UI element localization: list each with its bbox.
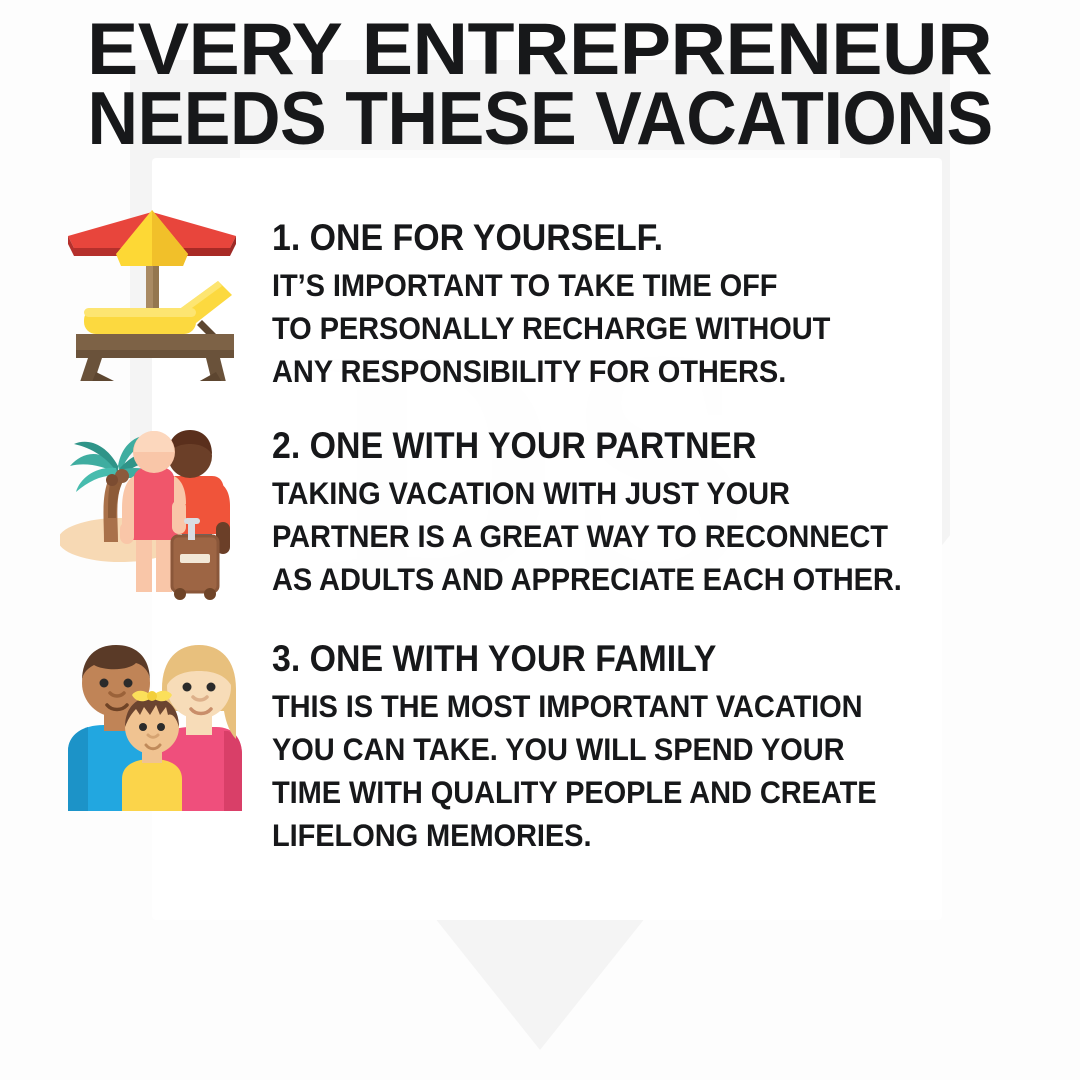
- tip-body-1-line-1: IT’S IMPORTANT TO TAKE TIME OFF: [272, 264, 777, 307]
- tip-body-3-line-1: THIS IS THE MOST IMPORTANT VACATION: [272, 685, 863, 728]
- couple-vacation-palm-icon: [60, 418, 245, 603]
- page-title-line-1: EVERY ENTREPRENEUR: [87, 16, 992, 84]
- list-item-vacation-3: 3. ONE WITH YOUR FAMILY THIS IS THE MOST…: [0, 631, 1080, 856]
- tip-heading-2: 2. ONE WITH YOUR PARTNER: [272, 426, 756, 466]
- family-icon: [60, 631, 245, 816]
- tip-body-2-line-3: AS ADULTS AND APPRECIATE EACH OTHER.: [272, 558, 902, 601]
- tip-body-3-line-2: YOU CAN TAKE. YOU WILL SPEND YOUR: [272, 728, 845, 771]
- tip-body-1: IT’S IMPORTANT TO TAKE TIME OFF TO PERSO…: [272, 264, 1080, 392]
- tip-body-1-line-2: TO PERSONALLY RECHARGE WITHOUT: [272, 307, 830, 350]
- list-item-vacation-2: 2. ONE WITH YOUR PARTNER TAKING VACATION…: [0, 418, 1080, 609]
- tip-body-1-line-3: ANY RESPONSIBILITY FOR OTHERS.: [272, 350, 786, 393]
- tip-body-3-line-3: TIME WITH QUALITY PEOPLE AND CREATE: [272, 771, 877, 814]
- tips-list: 1. ONE FOR YOURSELF. IT’S IMPORTANT TO T…: [0, 196, 1080, 875]
- tip-heading-1: 1. ONE FOR YOURSELF.: [272, 218, 663, 258]
- text-cell-2: 2. ONE WITH YOUR PARTNER TAKING VACATION…: [250, 418, 1080, 600]
- tip-body-2-line-1: TAKING VACATION WITH JUST YOUR: [272, 472, 790, 515]
- page-title-line-2: NEEDS THESE VACATIONS: [87, 84, 992, 154]
- icon-cell-2: [60, 418, 250, 609]
- icon-cell-1: [60, 196, 250, 381]
- tip-heading-3: 3. ONE WITH YOUR FAMILY: [272, 639, 716, 679]
- text-cell-1: 1. ONE FOR YOURSELF. IT’S IMPORTANT TO T…: [250, 196, 1080, 392]
- poster-canvas: DS EVERY ENTREPRENEUR NEEDS THESE VACATI…: [0, 0, 1080, 1080]
- list-item-vacation-1: 1. ONE FOR YOURSELF. IT’S IMPORTANT TO T…: [0, 196, 1080, 392]
- text-cell-3: 3. ONE WITH YOUR FAMILY THIS IS THE MOST…: [250, 631, 1080, 856]
- tip-body-2: TAKING VACATION WITH JUST YOUR PARTNER I…: [272, 472, 1080, 600]
- tip-body-2-line-2: PARTNER IS A GREAT WAY TO RECONNECT: [272, 515, 888, 558]
- beach-umbrella-lounger-icon: [60, 196, 245, 381]
- icon-cell-3: [60, 631, 250, 832]
- tip-body-3: THIS IS THE MOST IMPORTANT VACATION YOU …: [272, 685, 1080, 856]
- tip-body-3-line-4: LIFELONG MEMORIES.: [272, 814, 591, 857]
- page-title: EVERY ENTREPRENEUR NEEDS THESE VACATIONS: [0, 16, 1080, 154]
